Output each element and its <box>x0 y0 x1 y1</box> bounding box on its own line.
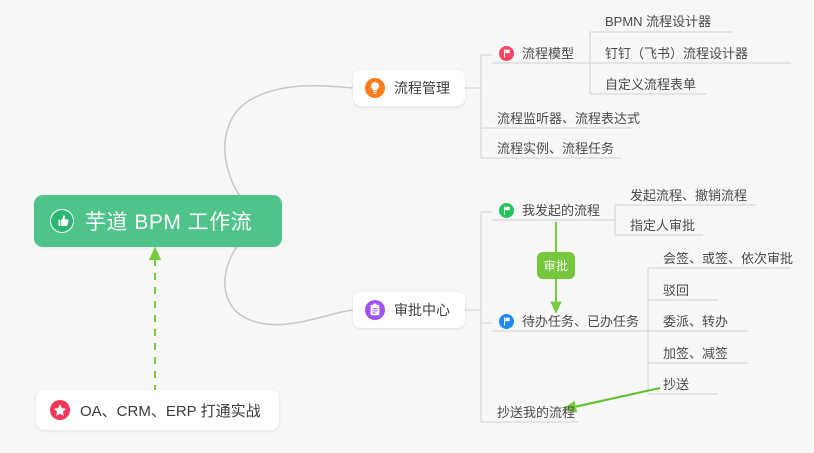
star-icon <box>50 400 70 420</box>
mindmap-canvas: 芋道 BPM 工作流 流程管理 流程模型 BPMN 流程设计器 钉钉（飞书）流程… <box>0 0 814 453</box>
root-label: 芋道 BPM 工作流 <box>85 206 252 236</box>
leaf-custom-form[interactable]: 自定义流程表单 <box>598 76 703 97</box>
leaf-process-instance[interactable]: 流程实例、流程任务 <box>490 140 621 161</box>
leaf-reject[interactable]: 驳回 <box>656 282 696 303</box>
leaf-add-remove-sign[interactable]: 加签、减签 <box>656 345 735 366</box>
leaf-assignee-approval[interactable]: 指定人审批 <box>623 217 702 238</box>
branch-approval-center[interactable]: 审批中心 <box>353 292 465 328</box>
node-todo-done-tasks-label: 待办任务、已办任务 <box>522 313 639 330</box>
thumbs-up-icon <box>50 209 74 233</box>
node-todo-done-tasks[interactable]: 待办任务、已办任务 <box>492 313 646 334</box>
flag-icon <box>499 314 514 329</box>
node-process-model-label: 流程模型 <box>522 45 574 62</box>
approval-annotation-badge[interactable]: 审批 <box>537 252 575 279</box>
approval-annotation-label: 审批 <box>543 257 568 274</box>
node-my-started-processes-label: 我发起的流程 <box>522 202 600 219</box>
leaf-dingtalk-designer[interactable]: 钉钉（飞书）流程设计器 <box>598 45 755 66</box>
leaf-launch-cancel-process[interactable]: 发起流程、撤销流程 <box>623 187 754 208</box>
clipboard-icon <box>365 300 385 320</box>
node-integration-practice-label: OA、CRM、ERP 打通实战 <box>80 400 261 421</box>
leaf-cc-to-me-process[interactable]: 抄送我的流程 <box>490 404 582 425</box>
branch-process-management-label: 流程管理 <box>394 78 450 98</box>
node-process-model[interactable]: 流程模型 <box>492 45 581 66</box>
root-node[interactable]: 芋道 BPM 工作流 <box>34 195 282 247</box>
lightbulb-icon <box>365 78 385 98</box>
leaf-countersign[interactable]: 会签、或签、依次审批 <box>656 250 800 271</box>
leaf-process-listener[interactable]: 流程监听器、流程表达式 <box>490 110 647 131</box>
branch-process-management[interactable]: 流程管理 <box>353 70 465 106</box>
leaf-carbon-copy[interactable]: 抄送 <box>656 376 696 397</box>
node-integration-practice[interactable]: OA、CRM、ERP 打通实战 <box>36 390 279 430</box>
flag-icon <box>499 46 514 61</box>
node-my-started-processes[interactable]: 我发起的流程 <box>492 202 607 223</box>
flag-icon <box>499 203 514 218</box>
leaf-bpmn-designer[interactable]: BPMN 流程设计器 <box>598 13 718 34</box>
branch-approval-center-label: 审批中心 <box>394 300 450 320</box>
leaf-delegate-transfer[interactable]: 委派、转办 <box>656 313 735 334</box>
